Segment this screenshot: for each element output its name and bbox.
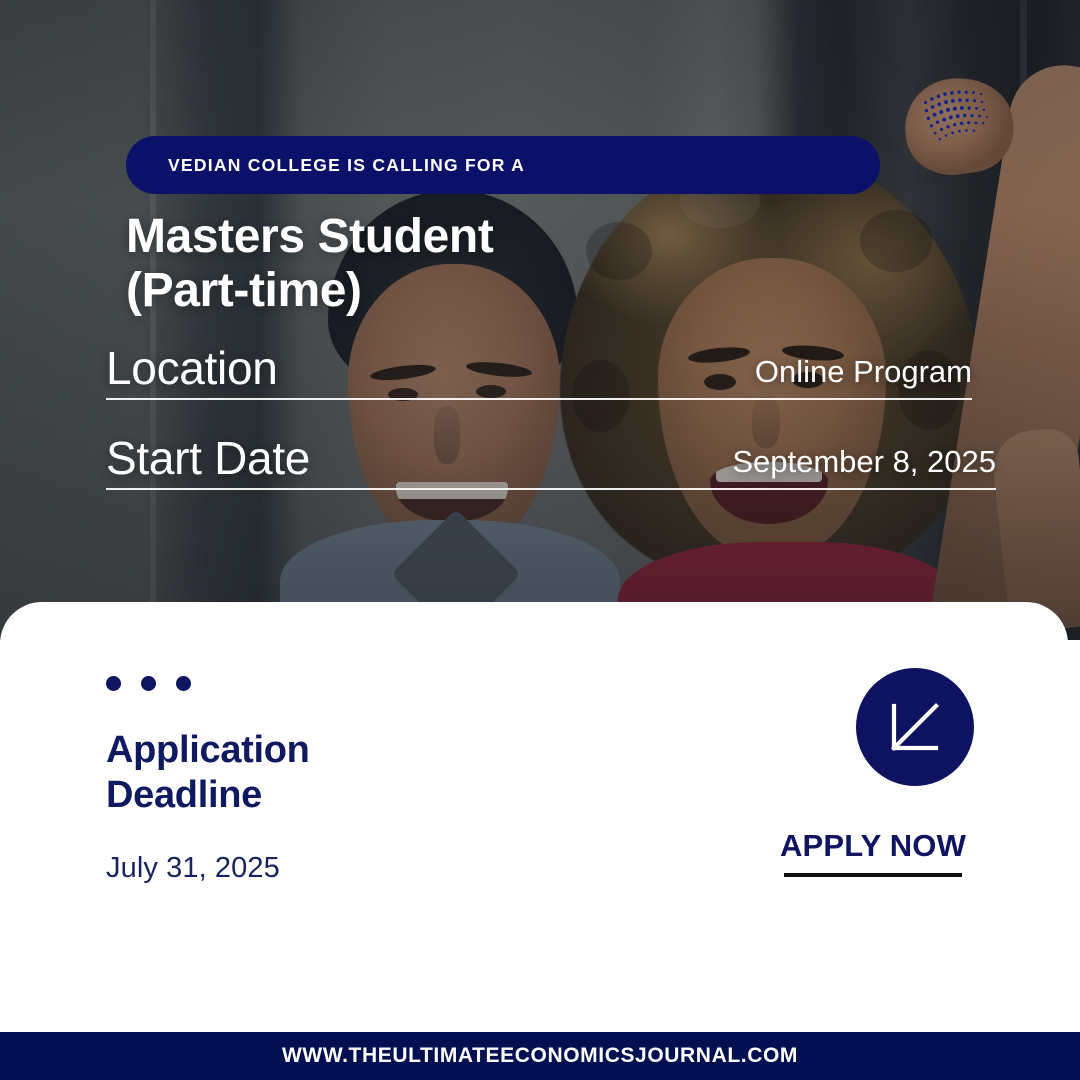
apply-arrow-button[interactable] (856, 668, 974, 786)
eyebrow-pill-label: VEDIAN COLLEGE IS CALLING FOR A (126, 155, 525, 176)
apply-now-cta[interactable]: APPLY NOW (772, 828, 974, 877)
job-title-line-2: (Part-time) (126, 264, 766, 318)
detail-row-start-date: Start Date September 8, 2025 (106, 434, 996, 490)
apply-now-label: APPLY NOW (772, 828, 974, 864)
job-title-line-1: Masters Student (126, 210, 493, 263)
detail-value: September 8, 2025 (732, 446, 996, 483)
footer-bar: WWW.THEULTIMATEECONOMICSJOURNAL.COM (0, 1032, 1080, 1080)
footer-website-url[interactable]: WWW.THEULTIMATEECONOMICSJOURNAL.COM (282, 1044, 798, 1068)
eyebrow-pill: VEDIAN COLLEGE IS CALLING FOR A (126, 136, 880, 194)
info-card (0, 602, 1068, 1034)
detail-label: Location (106, 344, 278, 392)
dot (176, 676, 191, 691)
deadline-date: July 31, 2025 (106, 852, 280, 885)
deadline-title: Application Deadline (106, 728, 576, 818)
hero-content: VEDIAN COLLEGE IS CALLING FOR A Masters … (0, 0, 1080, 640)
dot (141, 676, 156, 691)
apply-now-underline (784, 873, 962, 877)
detail-label: Start Date (106, 434, 310, 482)
detail-value: Online Program (755, 356, 972, 393)
decorative-dots (106, 676, 191, 691)
job-title: Masters Student (Part-time) (126, 210, 766, 318)
deadline-title-line-1: Application (106, 729, 310, 771)
dot (106, 676, 121, 691)
arrow-down-left-icon (884, 696, 946, 758)
deadline-title-line-2: Deadline (106, 773, 576, 818)
detail-row-location: Location Online Program (106, 344, 972, 400)
hero-section: VEDIAN COLLEGE IS CALLING FOR A Masters … (0, 0, 1080, 640)
